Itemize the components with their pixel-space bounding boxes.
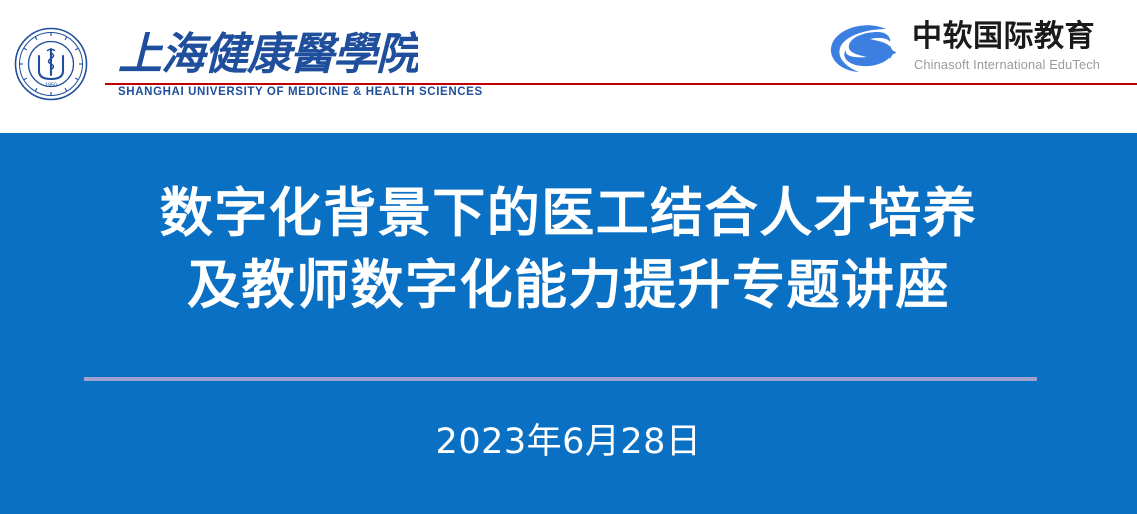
university-seal-icon: 1950 (14, 27, 88, 101)
university-name-cn-text: 上海健康醫學院 (118, 29, 418, 80)
chinasoft-logo: 中软国际教育 Chinasoft International EduTech (826, 20, 1126, 82)
seal-year-text: 1950 (45, 83, 57, 89)
university-name-english: SHANGHAI UNIVERSITY OF MEDICINE & HEALTH… (118, 86, 483, 98)
slide-header-band: 1950 上海健康醫學院 SHANGHAI UNIVERSITY OF MEDI… (0, 0, 1137, 133)
slide-body: 数字化背景下的医工结合人才培养 及教师数字化能力提升专题讲座 2023年6月28… (0, 133, 1137, 514)
shanghai-university-logo: 1950 上海健康醫學院 SHANGHAI UNIVERSITY OF MEDI… (14, 22, 424, 112)
chinasoft-name-chinese: 中软国际教育 (912, 20, 1095, 54)
title-line-2: 及教师数字化能力提升专题讲座 (0, 249, 1137, 321)
chinasoft-name-english: Chinasoft International EduTech (914, 57, 1100, 72)
title-line-1: 数字化背景下的医工结合人才培养 (0, 177, 1137, 249)
slide-title: 数字化背景下的医工结合人才培养 及教师数字化能力提升专题讲座 (0, 177, 1137, 321)
title-divider (84, 377, 1037, 381)
university-name-chinese-calligraphy: 上海健康醫學院 (118, 24, 418, 82)
presentation-title-slide: 1950 上海健康醫學院 SHANGHAI UNIVERSITY OF MEDI… (0, 0, 1137, 514)
header-red-rule (105, 83, 1137, 85)
chinasoft-swoosh-icon (826, 22, 908, 76)
slide-date: 2023年6月28日 (0, 413, 1137, 464)
